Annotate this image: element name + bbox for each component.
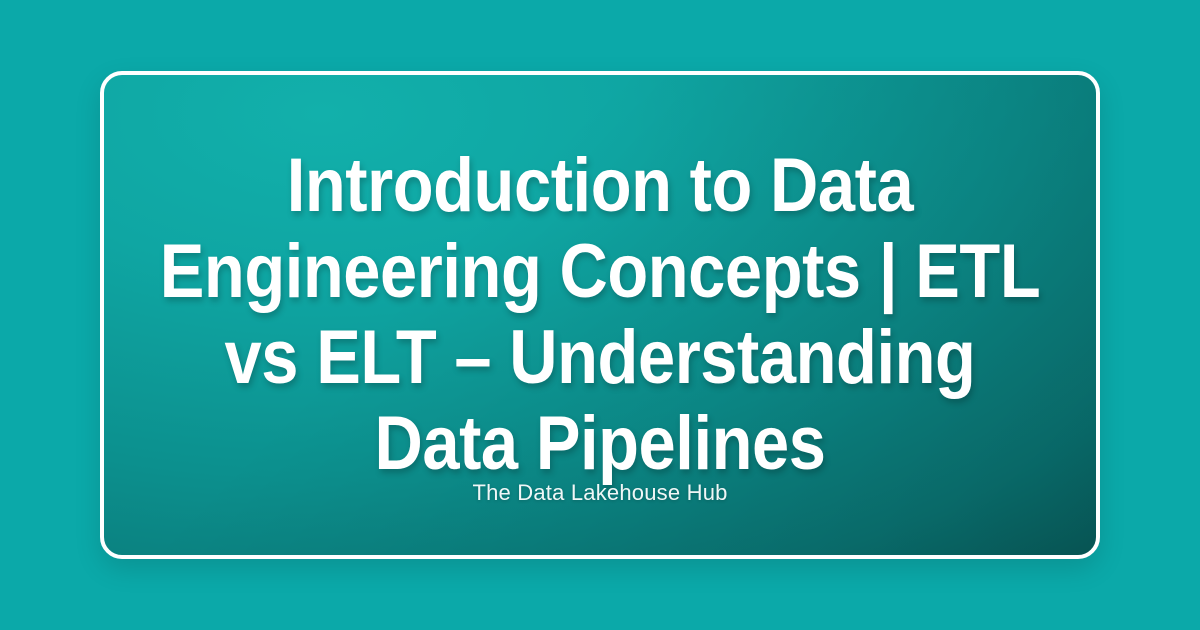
og-preview-card: Introduction to Data Engineering Concept… — [0, 0, 1200, 630]
card-panel — [100, 71, 1100, 559]
